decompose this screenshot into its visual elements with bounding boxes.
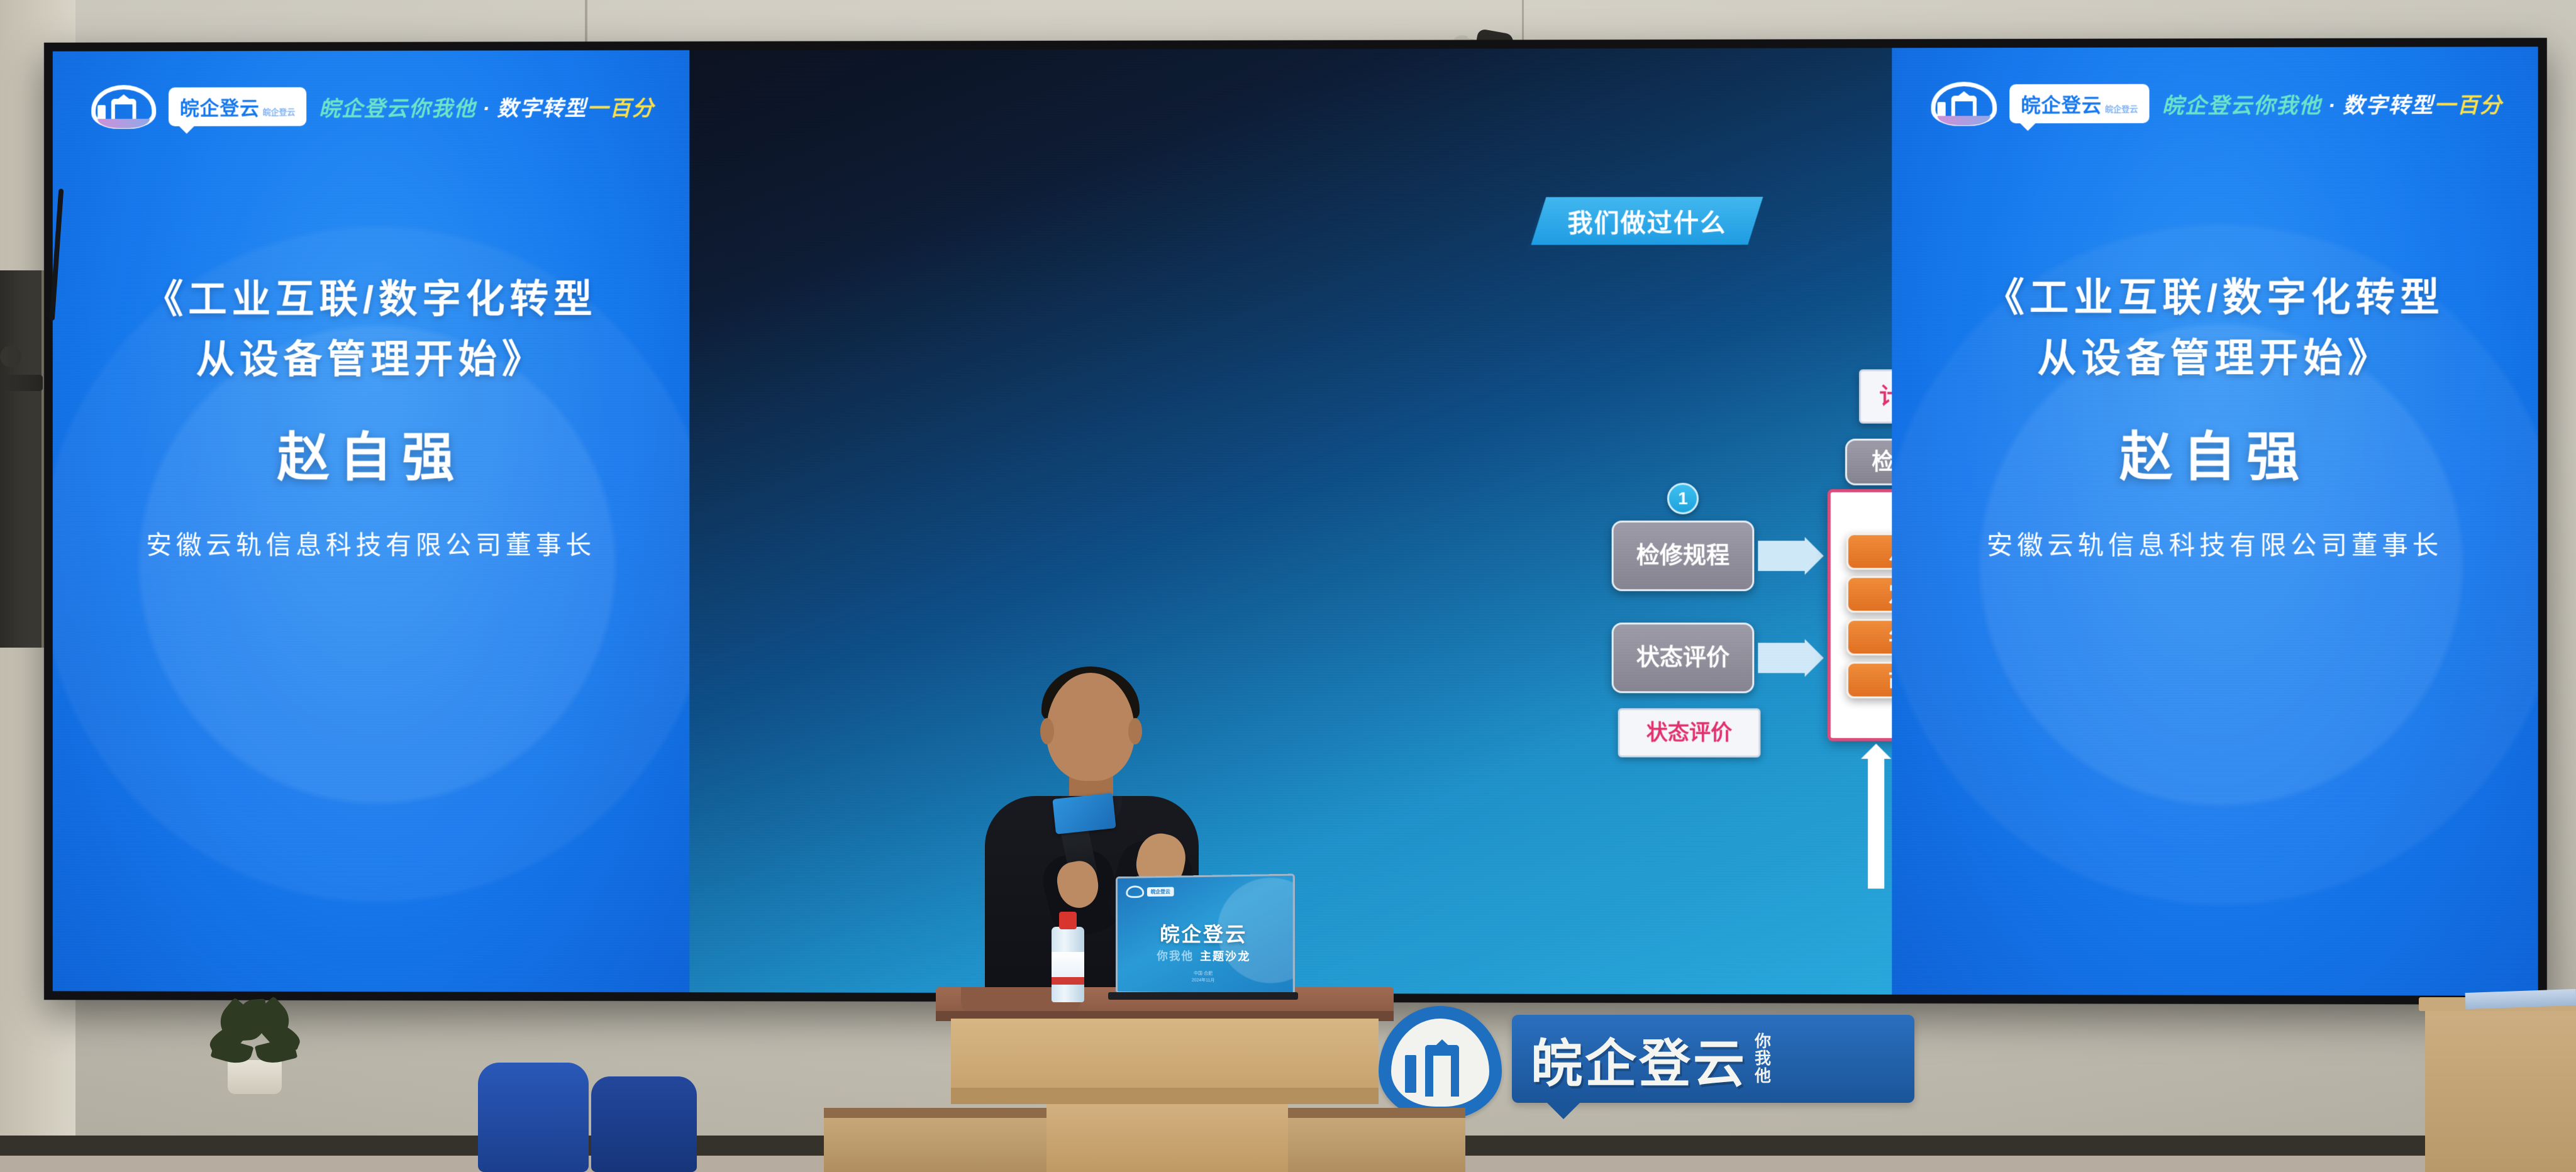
callout-plan-rolling: 计划滚动生成 xyxy=(1859,369,1892,423)
speaker-head xyxy=(1046,673,1135,781)
door-handle-icon[interactable] xyxy=(5,375,43,391)
deck-speaker-name: 赵自强 xyxy=(77,416,664,492)
audience-chair xyxy=(591,1076,697,1172)
led-wall-display: 皖企登云皖企登云 皖企登云你我他 · 数字转型 一百分 《工业互联/数字化转型 … xyxy=(53,47,2538,995)
door-knob-icon[interactable] xyxy=(0,346,21,367)
podium-column xyxy=(1046,1104,1288,1172)
potted-plant xyxy=(201,1000,308,1094)
deck-title-line2: 从设备管理开始》 xyxy=(77,330,664,390)
group-box-plans xyxy=(1828,489,1892,741)
podium-front-band xyxy=(951,1088,1379,1104)
led-video-wall: 皖企登云皖企登云 皖企登云你我他 · 数字转型 一百分 《工业互联/数字化转型 … xyxy=(44,38,2547,1005)
callout-condition-eval-note: 状态评价 xyxy=(1618,708,1761,757)
audience-chair xyxy=(478,1063,589,1172)
water-bottle xyxy=(1052,912,1084,1002)
wall-sign-small-text: 你我他 xyxy=(1755,1033,1771,1084)
node-plan-item-0[interactable]: 点检计划 xyxy=(1846,533,1892,570)
brand-lockup-left: 皖企登云皖企登云 皖企登云你我他 · 数字转型 一百分 xyxy=(91,84,655,129)
laptop-screen[interactable]: 皖企登云 皖企登云 你我他主题沙龙 中国·合肥2024年11月 xyxy=(1116,874,1295,997)
brand-chip-left: 皖企登云皖企登云 xyxy=(169,87,306,126)
speaker-ear-right xyxy=(1128,718,1142,744)
podium xyxy=(936,987,1394,1172)
speaker-ear-left xyxy=(1040,718,1054,744)
deck-title-line2: 从设备管理开始》 xyxy=(1917,329,2512,390)
laptop-base xyxy=(1108,992,1298,1000)
deck-affiliation: 安徽云轨信息科技有限公司董事长 xyxy=(1917,524,2512,561)
wall-seam xyxy=(1522,0,1524,41)
slide-panel-center: 我们做过什么 设备检修业务闭环设计 1 检修规程 状态评价 状态评价 计划滚动生… xyxy=(689,48,1892,995)
podium-front-face xyxy=(951,1019,1379,1093)
cloud-house-logo-icon xyxy=(1126,885,1144,898)
brand-lockup-right: 皖企登云皖企登云 皖企登云你我他 · 数字转型 一百分 xyxy=(1931,81,2503,126)
node-plan-item-1[interactable]: 定修计划 xyxy=(1846,576,1892,612)
node-plan-item-2[interactable]: 年修计划 xyxy=(1846,619,1892,655)
laptop-brand-lockup: 皖企登云 xyxy=(1126,885,1174,898)
step-badge-1: 1 xyxy=(1667,483,1699,514)
slide-panel-left: 皖企登云皖企登云 皖企登云你我他 · 数字转型 一百分 《工业互联/数字化转型 … xyxy=(53,50,690,992)
slide-panel-right: 皖企登云皖企登云 皖企登云你我他 · 数字转型 一百分 《工业互联/数字化转型 … xyxy=(1892,47,2538,995)
slide-body-left: 《工业互联/数字化转型 从设备管理开始》 赵自强 安徽云轨信息科技有限公司董事长 xyxy=(53,270,690,561)
brand-slogan-right: 皖企登云你我他 · 数字转型 一百分 xyxy=(2162,87,2503,119)
deck-affiliation: 安徽云轨信息科技有限公司董事长 xyxy=(77,524,664,561)
door-frame[interactable] xyxy=(0,270,44,648)
node-inspection-rules[interactable]: 检修规程 xyxy=(1612,521,1755,591)
laptop[interactable]: 皖企登云 皖企登云 你我他主题沙龙 中国·合肥2024年11月 xyxy=(1113,875,1293,995)
slide-body-right: 《工业互联/数字化转型 从设备管理开始》 赵自强 安徽云轨信息科技有限公司董事长 xyxy=(1892,268,2538,561)
wall-brand-sign: 皖企登云 你我他 xyxy=(1379,1003,2007,1123)
node-plan-item-3[interactable]: 故障检修 xyxy=(1846,661,1892,698)
node-condition-evaluation[interactable]: 状态评价 xyxy=(1612,622,1755,693)
laptop-brand-chip: 皖企登云 xyxy=(1147,887,1174,896)
plant-pot xyxy=(228,1060,282,1094)
wall-sign-plate: 皖企登云 你我他 xyxy=(1512,1015,1914,1103)
deck-speaker-name: 赵自强 xyxy=(1917,414,2512,491)
brand-slogan-left: 皖企登云你我他 · 数字转型 一百分 xyxy=(319,91,655,122)
laptop-subtitle: 你我他主题沙龙 xyxy=(1118,948,1293,965)
cloud-house-logo-icon xyxy=(1931,82,1997,126)
cloud-house-logo-icon xyxy=(1379,1006,1502,1119)
arrow-rules-to-plans xyxy=(1758,541,1804,571)
arrow-worksheet-up xyxy=(1868,759,1884,889)
deck-title-line1: 《工业互联/数字化转型 xyxy=(77,270,664,331)
wall-seam xyxy=(585,0,587,44)
node-plan-preparation[interactable]: 检修计划编制 xyxy=(1845,439,1892,485)
right-desk xyxy=(2425,1006,2576,1172)
deck-title-line1: 《工业互联/数字化转型 xyxy=(1917,268,2512,329)
bottle-label-stripe xyxy=(1052,977,1084,985)
section-tab: 我们做过什么 xyxy=(1531,197,1763,245)
brand-chip-right: 皖企登云皖企登云 xyxy=(2009,84,2149,124)
wall-sign-text: 皖企登云 xyxy=(1531,1022,1747,1097)
laptop-footer: 中国·合肥2024年11月 xyxy=(1118,970,1293,985)
laptop-main-title: 皖企登云 xyxy=(1118,918,1293,948)
bottle-cap xyxy=(1059,912,1077,929)
cloud-house-logo-icon xyxy=(91,85,156,129)
arrow-eval-to-plans xyxy=(1758,643,1804,673)
microphone-flag-badge xyxy=(1052,793,1116,834)
